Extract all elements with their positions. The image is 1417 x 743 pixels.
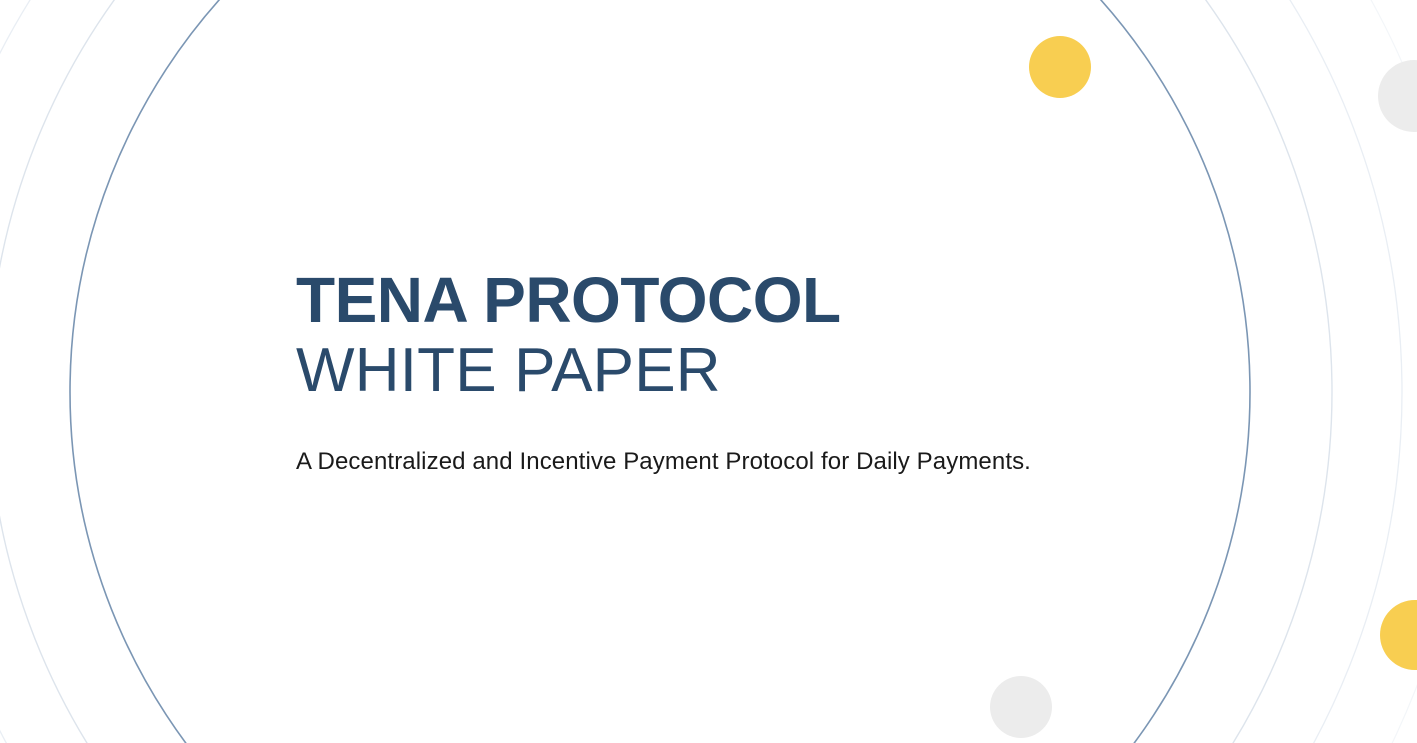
gray-dot-bottom (990, 676, 1052, 738)
white-paper-cover-page: TENA PROTOCOL WHITE PAPER A Decentralize… (0, 0, 1417, 743)
page-title-primary: TENA PROTOCOL (296, 268, 1196, 333)
title-block: TENA PROTOCOL WHITE PAPER A Decentralize… (296, 268, 1196, 477)
page-title-secondary: WHITE PAPER (296, 339, 1196, 403)
page-tagline: A Decentralized and Incentive Payment Pr… (296, 446, 1196, 477)
yellow-dot-top (1029, 36, 1091, 98)
yellow-dot-bottom-right (1380, 600, 1417, 670)
gray-dot-top-right (1378, 60, 1417, 132)
